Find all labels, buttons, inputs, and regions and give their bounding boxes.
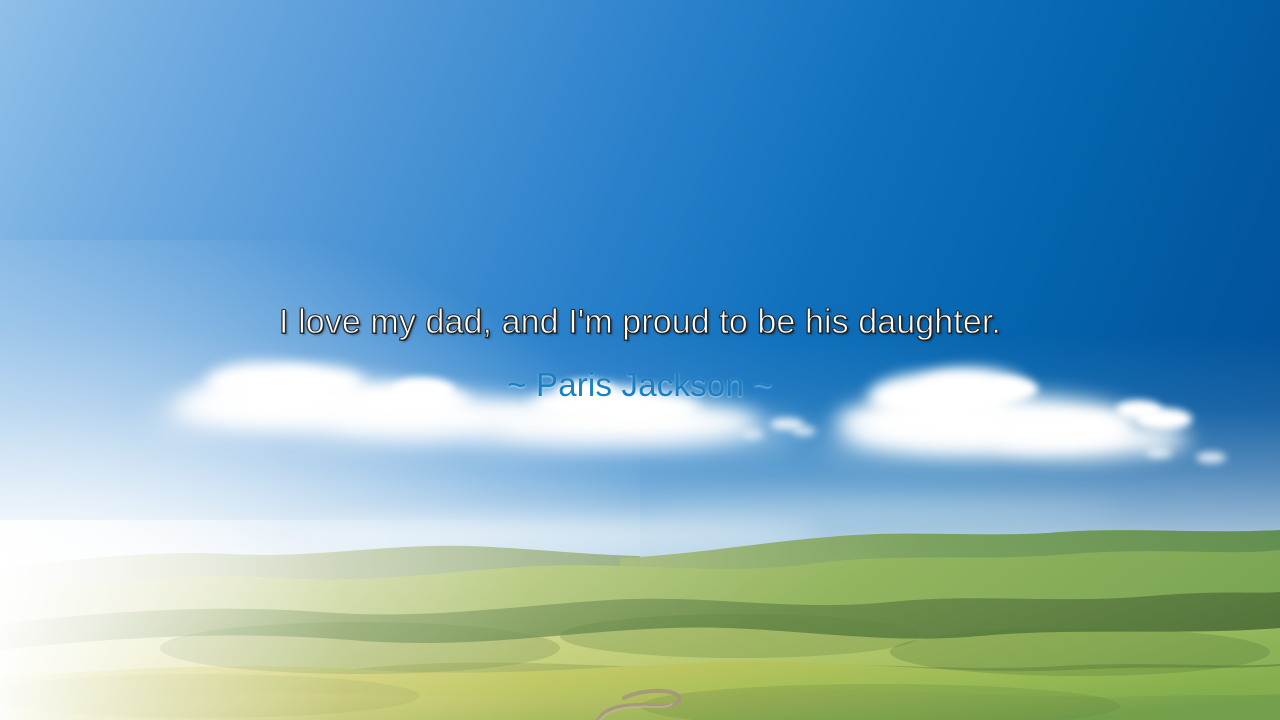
hills-svg <box>0 520 1280 720</box>
cirrus-streak <box>640 500 1120 522</box>
cloud-wisp <box>742 430 764 439</box>
hills-landscape <box>0 520 1280 720</box>
cloud-wisp <box>1146 448 1172 458</box>
quote-wallpaper: I love my dad, and I'm proud to be his d… <box>0 0 1280 720</box>
quote-text: I love my dad, and I'm proud to be his d… <box>0 300 1280 344</box>
cloud-wisp <box>1196 452 1226 463</box>
cloud <box>1030 414 1130 442</box>
hill-shadow-lobe <box>890 628 1270 676</box>
land-left-haze <box>0 520 760 720</box>
cloud-wisp <box>792 426 816 436</box>
quote-author: ~ Paris Jackson ~ <box>0 364 1280 406</box>
quote-block: I love my dad, and I'm proud to be his d… <box>0 300 1280 406</box>
cloud <box>1136 408 1192 430</box>
